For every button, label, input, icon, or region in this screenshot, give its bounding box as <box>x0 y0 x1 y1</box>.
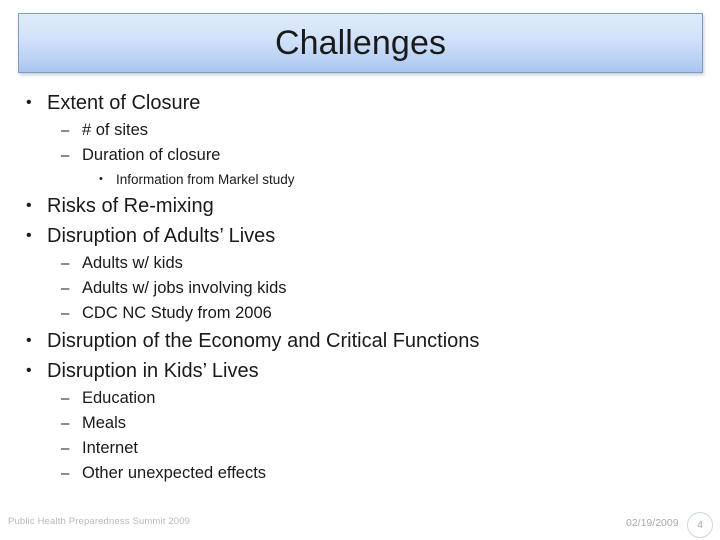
bullet-row: •Disruption of Adults’ Lives <box>0 221 720 251</box>
bullet-marker-icon: • <box>99 168 103 191</box>
bullet-row: –Education <box>0 386 720 411</box>
bullet-row: •Disruption of the Economy and Critical … <box>0 326 720 356</box>
footer-left-text: Public Health Preparedness Summit 2009 <box>8 516 190 527</box>
bullet-text: Extent of Closure <box>47 88 720 118</box>
bullet-text: Duration of closure <box>82 143 720 168</box>
bullet-text: Adults w/ kids <box>82 251 720 276</box>
bullet-text: Disruption of the Economy and Critical F… <box>47 326 720 356</box>
bullet-text: Adults w/ jobs involving kids <box>82 276 720 301</box>
bullet-marker-icon: – <box>61 118 69 143</box>
bullet-text: Education <box>82 386 720 411</box>
bullet-marker-icon: – <box>61 143 69 168</box>
page-number-label: 4 <box>697 520 703 531</box>
bullet-row: –Other unexpected effects <box>0 461 720 486</box>
bullet-marker-icon: • <box>26 191 32 221</box>
bullet-row: –CDC NC Study from 2006 <box>0 301 720 326</box>
bullet-marker-icon: – <box>61 461 69 486</box>
page-title: Challenges <box>275 26 446 60</box>
bullet-row: –Internet <box>0 436 720 461</box>
bullet-text: # of sites <box>82 118 720 143</box>
bullet-row: –Meals <box>0 411 720 436</box>
bullet-text: Other unexpected effects <box>82 461 720 486</box>
bullet-row: •Information from Markel study <box>0 168 720 191</box>
bullet-marker-icon: • <box>26 221 32 251</box>
bullet-row: •Extent of Closure <box>0 88 720 118</box>
bullet-text: Meals <box>82 411 720 436</box>
bullet-row: –Adults w/ kids <box>0 251 720 276</box>
bullet-text: Information from Markel study <box>116 168 720 191</box>
bullet-text: Risks of Re-mixing <box>47 191 720 221</box>
bullet-marker-icon: • <box>26 88 32 118</box>
bullet-marker-icon: • <box>26 326 32 356</box>
slide-body-list: •Extent of Closure–# of sites–Duration o… <box>0 88 720 486</box>
footer-date: 02/19/2009 <box>626 517 679 529</box>
bullet-marker-icon: – <box>61 436 69 461</box>
bullet-text: Internet <box>82 436 720 461</box>
bullet-text: Disruption in Kids’ Lives <box>47 356 720 386</box>
bullet-row: •Risks of Re-mixing <box>0 191 720 221</box>
bullet-text: Disruption of Adults’ Lives <box>47 221 720 251</box>
bullet-marker-icon: – <box>61 301 69 326</box>
bullet-row: –# of sites <box>0 118 720 143</box>
bullet-marker-icon: – <box>61 251 69 276</box>
page-number-badge: 4 <box>687 512 713 538</box>
bullet-row: •Disruption in Kids’ Lives <box>0 356 720 386</box>
bullet-marker-icon: – <box>61 276 69 301</box>
bullet-row: –Adults w/ jobs involving kids <box>0 276 720 301</box>
slide-title-box: Challenges <box>18 13 703 73</box>
bullet-marker-icon: • <box>26 356 32 386</box>
bullet-marker-icon: – <box>61 386 69 411</box>
bullet-text: CDC NC Study from 2006 <box>82 301 720 326</box>
slide-canvas: Challenges •Extent of Closure–# of sites… <box>0 0 720 540</box>
bullet-marker-icon: – <box>61 411 69 436</box>
bullet-row: –Duration of closure <box>0 143 720 168</box>
